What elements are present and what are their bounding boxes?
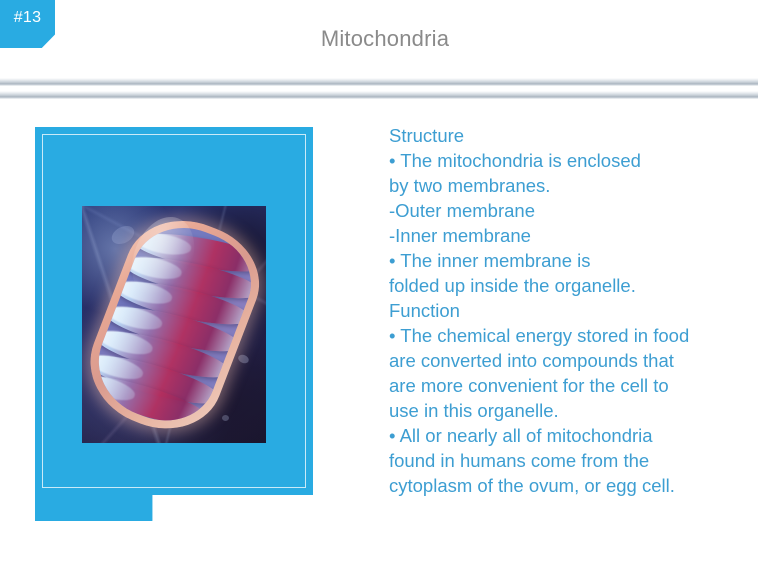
header-divider-top	[0, 78, 758, 86]
body-text-line: are more convenient for the cell to	[389, 373, 744, 398]
body-text-line: -Inner membrane	[389, 223, 744, 248]
header-divider-bottom	[0, 91, 758, 99]
body-text-line: are converted into compounds that	[389, 348, 744, 373]
body-text-line: found in humans come from the	[389, 448, 744, 473]
body-text-line: • The inner membrane is	[389, 248, 744, 273]
body-text-line: Structure	[389, 123, 744, 148]
mitochondrion-image	[82, 206, 266, 443]
body-text-line: by two membranes.	[389, 173, 744, 198]
body-text-line: • The chemical energy stored in food	[389, 323, 744, 348]
image-speck	[222, 415, 229, 421]
body-text-block: Structure • The mitochondria is enclosed…	[389, 123, 744, 498]
body-text-line: cytoplasm of the ovum, or egg cell.	[389, 473, 744, 498]
picture-panel	[35, 127, 313, 521]
body-text-line: folded up inside the organelle.	[389, 273, 744, 298]
body-text-line: • All or nearly all of mitochondria	[389, 423, 744, 448]
slide-canvas: #13 Mitochondria	[0, 0, 768, 561]
slide-number-badge: #13	[0, 0, 55, 48]
body-text-line: Function	[389, 298, 744, 323]
header-divider-group	[0, 78, 758, 100]
body-text-line: use in this organelle.	[389, 398, 744, 423]
body-text-line: -Outer membrane	[389, 198, 744, 223]
slide-number-label: #13	[0, 9, 55, 27]
body-text-line: • The mitochondria is enclosed	[389, 148, 744, 173]
page-title: Mitochondria	[70, 26, 700, 52]
panel-notch-shape	[152, 495, 175, 521]
